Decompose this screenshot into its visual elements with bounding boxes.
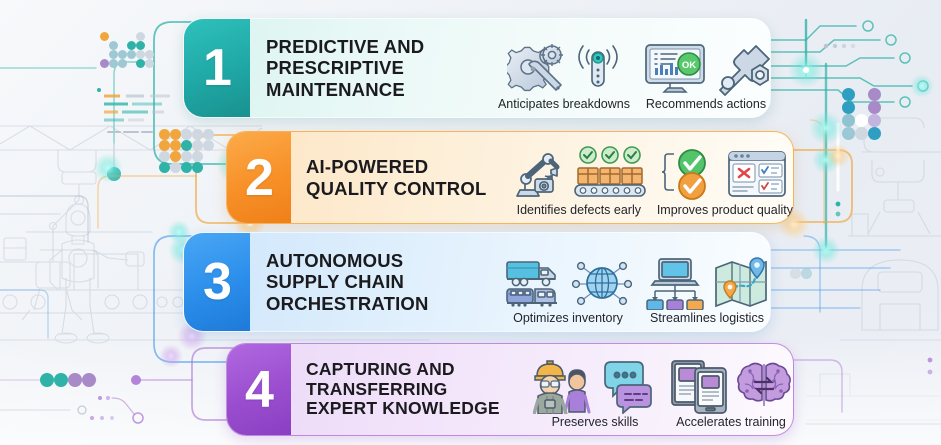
card-number-badge: 2 <box>227 132 291 223</box>
icon-cluster[interactable]: Improves product quality <box>657 146 793 217</box>
card-title: AUTONOMOUS SUPPLY CHAIN ORCHESTRATION <box>266 250 452 313</box>
icon-cluster[interactable]: Anticipates breakdowns <box>498 42 630 111</box>
card-icon-zone: Optimizes inventory <box>452 233 770 331</box>
icon-cluster[interactable]: Preserves skills <box>533 356 657 429</box>
gear-wrench-icon <box>507 42 569 96</box>
humanoid-robot-line-art <box>50 204 144 343</box>
circuit-traces-right <box>770 20 941 424</box>
dashboard-ok-monitor-icon: OK <box>642 42 708 96</box>
card-title: PREDICTIVE AND PRESCRIPTIVE MAINTENANCE <box>266 36 446 99</box>
map-route-pin-icon <box>712 256 770 310</box>
card-number-badge: 1 <box>184 19 250 117</box>
dot-grid-bottom-left <box>40 373 96 387</box>
icon-cluster[interactable]: OK <box>642 42 770 111</box>
icon-caption: Improves product quality <box>657 203 793 217</box>
icon-caption: Preserves skills <box>552 415 639 429</box>
conveyor-boxes-check-icon <box>573 146 647 202</box>
worker-mentor-pair-icon <box>533 356 595 414</box>
infographic-canvas: 1 PREDICTIVE AND PRESCRIPTIVE MAINTENANC… <box>0 0 941 445</box>
card-number-badge: 3 <box>184 233 250 331</box>
dot-grid-right <box>842 88 881 140</box>
robot-arm-camera-icon <box>511 146 567 202</box>
card-body: CAPTURING AND TRANSFERRING EXPERT KNOWLE… <box>291 344 793 435</box>
icon-caption: Streamlines logistics <box>650 311 764 325</box>
globe-network-icon <box>572 256 632 310</box>
card-number-badge: 4 <box>227 344 291 435</box>
wireless-sensor-icon <box>575 42 621 96</box>
card-icon-zone: Preserves skills <box>506 344 793 435</box>
truck-train-icon <box>504 256 566 310</box>
icon-row <box>511 146 647 202</box>
card-icon-zone: Anticipates breakdowns <box>446 19 770 117</box>
dot-grid-card3-right <box>790 268 812 279</box>
wrench-nut-icon <box>714 42 770 96</box>
factory-line-art-right <box>806 118 941 420</box>
card-body: PREDICTIVE AND PRESCRIPTIVE MAINTENANCE <box>250 19 770 117</box>
card-predictive-maintenance[interactable]: 1 PREDICTIVE AND PRESCRIPTIVE MAINTENANC… <box>183 18 771 118</box>
icon-row <box>507 42 621 96</box>
dot-grid-mid-left <box>159 129 214 173</box>
icon-cluster[interactable]: Accelerates training <box>669 358 793 429</box>
card-icon-zone: Identifies defects early <box>491 132 793 223</box>
card-body: AUTONOMOUS SUPPLY CHAIN ORCHESTRATION <box>250 233 770 331</box>
icon-row <box>504 256 632 310</box>
speech-bubbles-icon <box>601 358 657 414</box>
dual-checkmark-icon <box>662 146 720 202</box>
icon-row <box>533 356 657 414</box>
card-expert-knowledge[interactable]: 4 CAPTURING AND TRANSFERRING EXPERT KNOW… <box>226 343 794 436</box>
icon-caption: Optimizes inventory <box>513 311 623 325</box>
icon-caption: Accelerates training <box>676 415 786 429</box>
tablet-documents-icon <box>669 358 729 414</box>
card-title: AI-POWERED QUALITY CONTROL <box>306 156 491 198</box>
card-title: CAPTURING AND TRANSFERRING EXPERT KNOWLE… <box>306 360 506 420</box>
icon-cluster[interactable]: Streamlines logistics <box>644 256 770 325</box>
card-quality-control[interactable]: 2 AI-POWERED QUALITY CONTROL <box>226 131 794 224</box>
icon-caption: Anticipates breakdowns <box>498 97 630 111</box>
icon-cluster[interactable]: Optimizes inventory <box>504 256 632 325</box>
card-supply-chain[interactable]: 3 AUTONOMOUS SUPPLY CHAIN ORCHESTRATION <box>183 232 771 332</box>
svg-text:OK: OK <box>682 60 696 71</box>
icon-caption: Identifies defects early <box>517 203 641 217</box>
brain-transfer-icon <box>735 358 793 414</box>
icon-caption: Recommends actions <box>646 97 766 111</box>
dot-grid-top-left <box>100 32 154 68</box>
inspection-report-window-icon <box>726 146 788 202</box>
card-body: AI-POWERED QUALITY CONTROL <box>291 132 793 223</box>
icon-row: OK <box>642 42 770 96</box>
laptop-hierarchy-icon <box>644 256 706 310</box>
icon-cluster[interactable]: Identifies defects early <box>511 146 647 217</box>
icon-row <box>644 256 770 310</box>
icon-row <box>669 358 793 414</box>
icon-row <box>662 146 788 202</box>
